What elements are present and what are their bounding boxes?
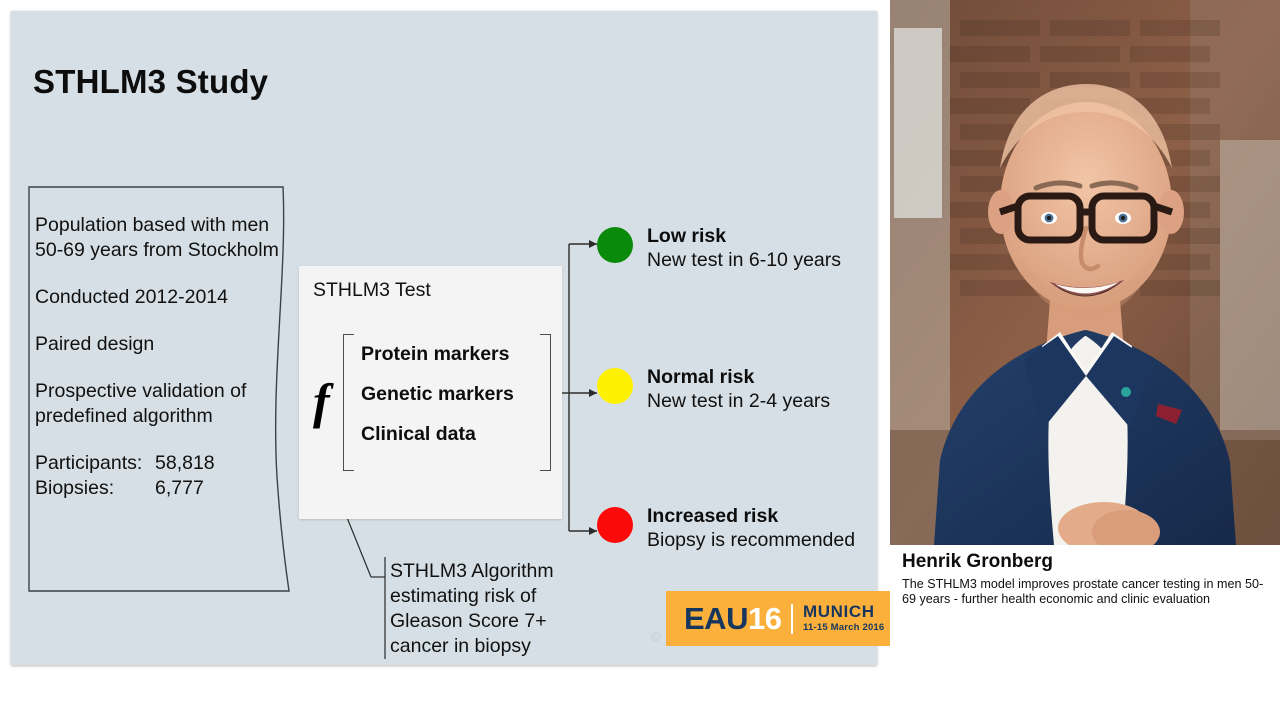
speaker-name: Henrik Gronberg (902, 550, 1270, 574)
test-input-clinical: Clinical data (361, 424, 551, 445)
eau-logo-location: MUNICH 11-15 March 2016 (803, 603, 884, 633)
outcome-low-risk-recommendation: New test in 6-10 years (647, 248, 841, 272)
eau16-logo: EAU16 MUNICH 11-15 March 2016 (666, 591, 898, 646)
test-inputs-list: Protein markers Genetic markers Clinical… (361, 344, 551, 445)
fact-counts: Participants: 58,818 Biopsies: 6,777 (35, 451, 279, 501)
biopsies-row: Biopsies: 6,777 (35, 476, 279, 501)
presentation-slide: STHLM3 Study Population based with men 5… (11, 11, 877, 665)
fact-population: Population based with men 50-69 years fr… (35, 213, 279, 263)
copyright-watermark: © (651, 629, 661, 644)
eau-logo-city: MUNICH (803, 603, 884, 622)
speaker-description: The STHLM3 model improves prostate cance… (902, 577, 1270, 607)
participants-label: Participants: (35, 451, 155, 476)
function-symbol: f (313, 376, 330, 426)
test-box-title: STHLM3 Test (313, 279, 431, 302)
eau-logo-dates: 11-15 March 2016 (803, 623, 884, 633)
biopsies-value: 6,777 (155, 476, 204, 501)
test-input-genetic: Genetic markers (361, 384, 551, 405)
outcome-low-risk-text: Low risk New test in 6-10 years (647, 225, 841, 272)
yellow-circle-icon (597, 368, 633, 404)
eau-logo-main: EAU16 (684, 603, 781, 634)
speaker-photo (890, 0, 1280, 545)
screen-root: STHLM3 Study Population based with men 5… (0, 0, 1280, 720)
fact-conducted: Conducted 2012-2014 (35, 285, 279, 310)
eau-logo-brand: EAU (684, 601, 748, 636)
algorithm-annotation: STHLM3 Algorithm estimating risk of Glea… (390, 559, 600, 659)
green-circle-icon (597, 227, 633, 263)
study-facts-text: Population based with men 50-69 years fr… (35, 213, 279, 501)
outcome-increased-risk-recommendation: Biopsy is recommended (647, 528, 855, 552)
outcome-increased-risk: Increased risk Biopsy is recommended (597, 505, 855, 552)
sthlm3-test-box: STHLM3 Test f Protein markers Genetic ma… (299, 266, 562, 519)
bracket-left-icon (343, 334, 354, 471)
slide-frame: STHLM3 Study Population based with men 5… (0, 0, 890, 680)
outcome-normal-risk-recommendation: New test in 2-4 years (647, 389, 830, 413)
outcome-increased-risk-text: Increased risk Biopsy is recommended (647, 505, 855, 552)
participants-value: 58,818 (155, 451, 215, 476)
eau-logo-divider (791, 604, 793, 634)
speaker-info: Henrik Gronberg The STHLM3 model improve… (902, 550, 1270, 607)
speaker-panel: Henrik Gronberg The STHLM3 model improve… (890, 0, 1280, 720)
outcome-normal-risk-title: Normal risk (647, 366, 830, 389)
fact-validation: Prospective validation of predefined alg… (35, 379, 279, 429)
biopsies-label: Biopsies: (35, 476, 155, 501)
red-circle-icon (597, 507, 633, 543)
inputs-bracket: Protein markers Genetic markers Clinical… (343, 334, 551, 469)
speaker-portrait-illustration (890, 0, 1280, 545)
slide-title: STHLM3 Study (33, 63, 268, 101)
outcome-increased-risk-title: Increased risk (647, 505, 855, 528)
test-input-protein: Protein markers (361, 344, 551, 365)
outcome-low-risk: Low risk New test in 6-10 years (597, 225, 841, 272)
fact-design: Paired design (35, 332, 279, 357)
eau-logo-year: 16 (748, 601, 781, 636)
participants-row: Participants: 58,818 (35, 451, 279, 476)
outcome-normal-risk: Normal risk New test in 2-4 years (597, 366, 830, 413)
outcome-low-risk-title: Low risk (647, 225, 841, 248)
outcome-normal-risk-text: Normal risk New test in 2-4 years (647, 366, 830, 413)
study-facts-box: Population based with men 50-69 years fr… (19, 177, 295, 601)
